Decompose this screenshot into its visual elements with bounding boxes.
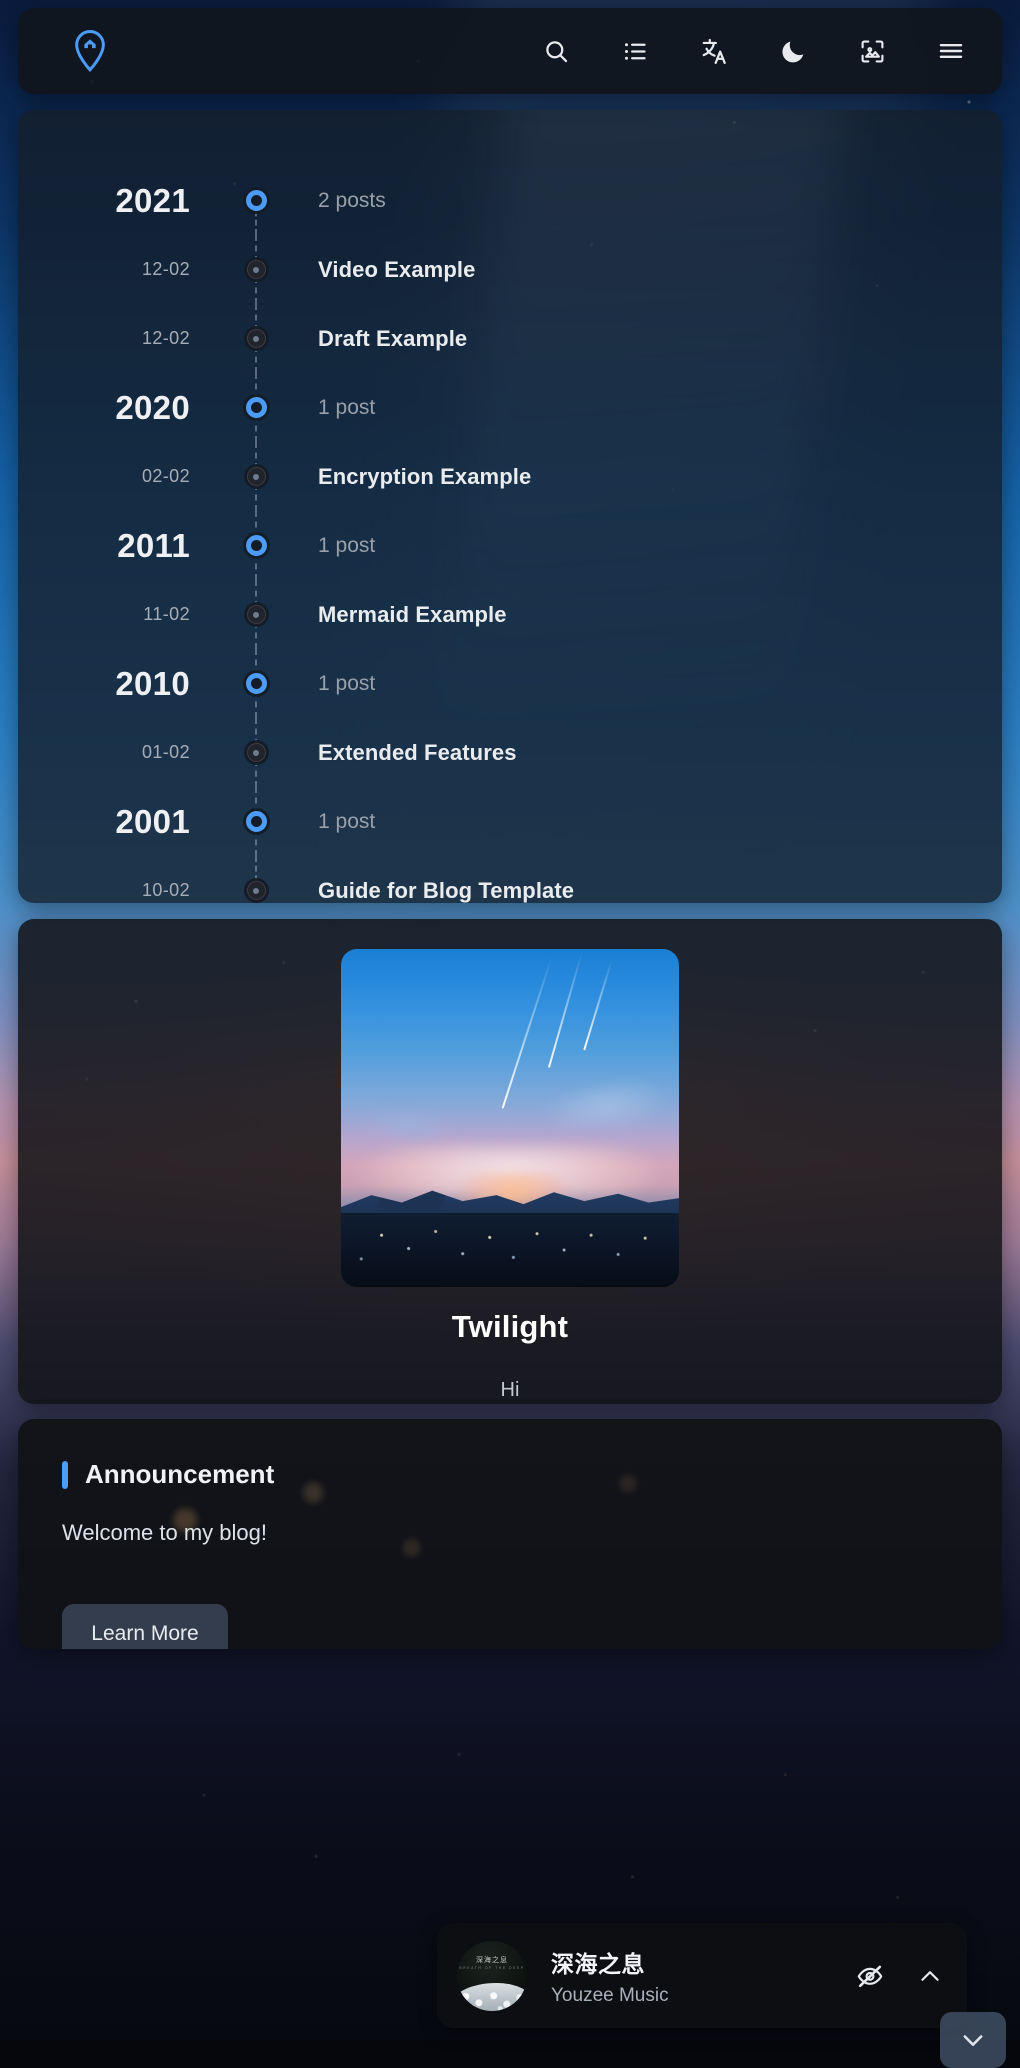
timeline-year-cell: 2021 xyxy=(18,182,228,220)
timeline-date-cell: 12-02 xyxy=(18,328,228,349)
timeline-connector xyxy=(228,787,284,856)
timeline-connector xyxy=(228,166,284,235)
timeline-connector xyxy=(228,856,284,903)
timeline-connector xyxy=(228,373,284,442)
timeline-year-cell: 2001 xyxy=(18,803,228,841)
timeline-post-row: 12-02Draft Example xyxy=(18,304,1002,373)
album-art-title: 深海之息 xyxy=(457,1955,527,1965)
timeline-post-row: 11-02Mermaid Example xyxy=(18,580,1002,649)
track-name: 深海之息 xyxy=(551,1945,669,1979)
timeline-content-cell: 1 post xyxy=(284,534,375,558)
timeline-post-count: 2 posts xyxy=(318,189,386,213)
timeline-post-row: 10-02Guide for Blog Template xyxy=(18,856,1002,903)
chevron-down-icon xyxy=(959,2026,987,2054)
timeline-year-dot-icon xyxy=(246,397,267,418)
timeline-date-label: 10-02 xyxy=(18,880,190,901)
timeline-date-label: 11-02 xyxy=(18,604,190,625)
timeline-post-dot-icon xyxy=(247,881,266,900)
timeline-content-cell: 1 post xyxy=(284,810,375,834)
location-pin-home-logo[interactable] xyxy=(70,29,110,73)
moon-icon[interactable] xyxy=(778,36,808,66)
chevron-up-icon[interactable] xyxy=(915,1961,945,1991)
timeline-post-title-link[interactable]: Encryption Example xyxy=(318,464,531,490)
timeline-date-label: 01-02 xyxy=(18,742,190,763)
timeline-date-label: 12-02 xyxy=(18,259,190,280)
announcement-text: Welcome to my blog! xyxy=(62,1520,1002,1546)
timeline-year-cell: 2011 xyxy=(18,527,228,565)
timeline-connector xyxy=(228,304,284,373)
timeline-date-cell: 01-02 xyxy=(18,742,228,763)
timeline-date-label: 02-02 xyxy=(18,466,190,487)
header-nav-icons xyxy=(541,36,966,66)
album-art-subtitle: BREATH OF THE DEEP xyxy=(457,1966,527,1970)
timeline-post-dot-icon xyxy=(247,743,266,762)
timeline-year-cell: 2020 xyxy=(18,389,228,427)
timeline-connector xyxy=(228,580,284,649)
profile-bio: Hi xyxy=(501,1379,520,1402)
timeline-content-cell: Video Example xyxy=(284,257,475,283)
music-player: 深海之息 BREATH OF THE DEEP 深海之息 Youzee Musi… xyxy=(437,1923,967,2028)
announcement-card: Announcement Welcome to my blog! Learn M… xyxy=(18,1419,1002,1649)
timeline-post-title-link[interactable]: Video Example xyxy=(318,257,475,283)
announcement-title: Announcement xyxy=(85,1459,274,1490)
timeline-post-dot-icon xyxy=(247,329,266,348)
list-icon[interactable] xyxy=(620,36,650,66)
timeline-year-label: 2020 xyxy=(18,389,190,427)
timeline-year-row: 20111 post xyxy=(18,511,1002,580)
timeline-post-count: 1 post xyxy=(318,810,375,834)
timeline-year-dot-icon xyxy=(246,190,267,211)
timeline-connector xyxy=(228,442,284,511)
archive-timeline-card: 20212 posts12-02Video Example12-02Draft … xyxy=(18,110,1002,903)
twilight-landscape-avatar[interactable] xyxy=(341,949,679,1287)
announcement-header: Announcement xyxy=(62,1459,1002,1490)
timeline-connector xyxy=(228,718,284,787)
scroll-button[interactable] xyxy=(940,2012,1006,2068)
site-header xyxy=(18,8,1002,94)
timeline-year-cell: 2010 xyxy=(18,665,228,703)
timeline-year-row: 20101 post xyxy=(18,649,1002,718)
image-toggle-icon[interactable] xyxy=(857,36,887,66)
timeline-year-label: 2021 xyxy=(18,182,190,220)
timeline-post-title-link[interactable]: Extended Features xyxy=(318,740,517,766)
timeline-year-row: 20201 post xyxy=(18,373,1002,442)
avatar-city-lights xyxy=(341,1213,679,1287)
track-info: 深海之息 Youzee Music xyxy=(551,1945,669,2007)
timeline-date-cell: 12-02 xyxy=(18,259,228,280)
timeline-date-cell: 11-02 xyxy=(18,604,228,625)
search-icon[interactable] xyxy=(541,36,571,66)
timeline-connector xyxy=(228,649,284,718)
timeline-content-cell: 1 post xyxy=(284,396,375,420)
album-art-wave xyxy=(457,1983,527,2011)
timeline-post-row: 12-02Video Example xyxy=(18,235,1002,304)
timeline-year-label: 2001 xyxy=(18,803,190,841)
track-artist: Youzee Music xyxy=(551,1985,669,2007)
timeline-content-cell: Encryption Example xyxy=(284,464,531,490)
timeline-post-row: 01-02Extended Features xyxy=(18,718,1002,787)
timeline-year-label: 2010 xyxy=(18,665,190,703)
timeline-post-row: 02-02Encryption Example xyxy=(18,442,1002,511)
timeline-year-dot-icon xyxy=(246,811,267,832)
timeline-content-cell: 1 post xyxy=(284,672,375,696)
learn-more-button[interactable]: Learn More xyxy=(62,1604,228,1649)
timeline-post-title-link[interactable]: Draft Example xyxy=(318,326,467,352)
timeline-post-dot-icon xyxy=(247,605,266,624)
timeline-year-label: 2011 xyxy=(18,527,190,565)
timeline-connector xyxy=(228,511,284,580)
timeline-date-cell: 02-02 xyxy=(18,466,228,487)
timeline-content-cell: Draft Example xyxy=(284,326,467,352)
timeline-post-dot-icon xyxy=(247,467,266,486)
translate-icon[interactable] xyxy=(699,36,729,66)
album-art[interactable]: 深海之息 BREATH OF THE DEEP xyxy=(457,1941,527,2011)
hamburger-menu-icon[interactable] xyxy=(936,36,966,66)
timeline-connector xyxy=(228,235,284,304)
music-player-actions xyxy=(855,1961,945,1991)
timeline-date-cell: 10-02 xyxy=(18,880,228,901)
timeline-year-dot-icon xyxy=(246,535,267,556)
timeline-date-label: 12-02 xyxy=(18,328,190,349)
timeline-list: 20212 posts12-02Video Example12-02Draft … xyxy=(18,110,1002,903)
profile-card: Twilight Hi GitHub xyxy=(18,919,1002,1404)
timeline-content-cell: Mermaid Example xyxy=(284,602,507,628)
timeline-content-cell: 2 posts xyxy=(284,189,386,213)
timeline-post-dot-icon xyxy=(247,260,266,279)
profile-name: Twilight xyxy=(452,1309,568,1345)
eye-slash-icon[interactable] xyxy=(855,1961,885,1991)
timeline-year-row: 20212 posts xyxy=(18,166,1002,235)
timeline-post-count: 1 post xyxy=(318,534,375,558)
timeline-post-count: 1 post xyxy=(318,672,375,696)
timeline-year-row: 20011 post xyxy=(18,787,1002,856)
timeline-post-title-link[interactable]: Mermaid Example xyxy=(318,602,507,628)
timeline-content-cell: Guide for Blog Template xyxy=(284,878,574,904)
timeline-content-cell: Extended Features xyxy=(284,740,517,766)
timeline-post-title-link[interactable]: Guide for Blog Template xyxy=(318,878,574,904)
timeline-year-dot-icon xyxy=(246,673,267,694)
timeline-post-count: 1 post xyxy=(318,396,375,420)
announcement-accent-bar xyxy=(62,1461,68,1489)
